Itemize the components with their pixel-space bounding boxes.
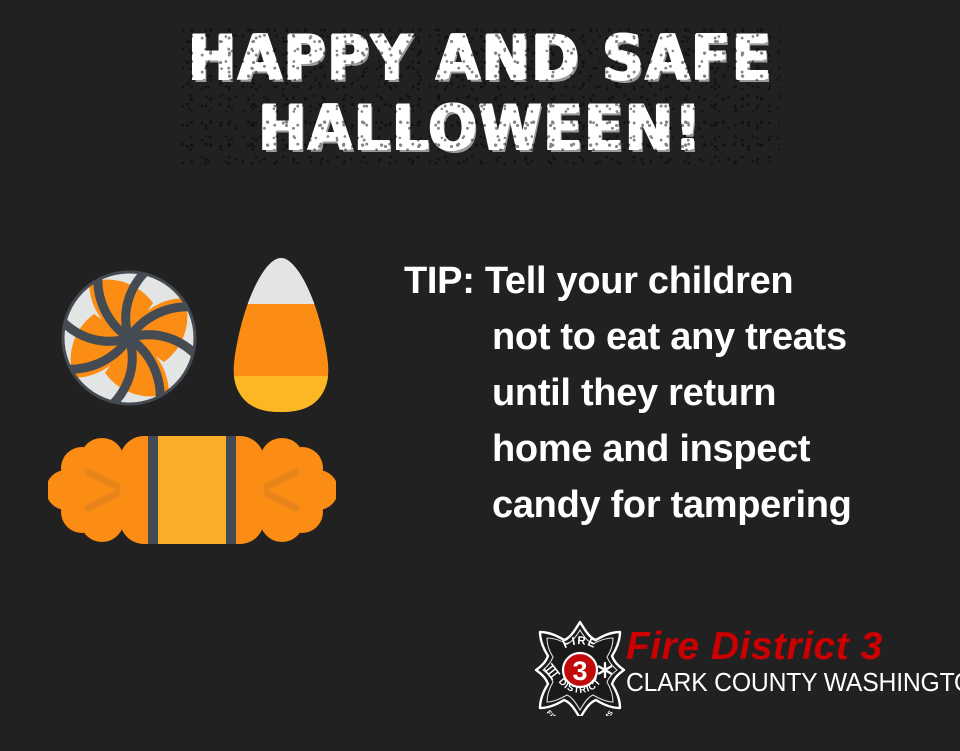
poster-headline: Happy and Safe Halloween! bbox=[38, 26, 921, 160]
headline-line-2: Halloween! bbox=[38, 96, 921, 160]
fire-department-badge-icon: FIRE 3 DISTRICT bbox=[534, 620, 626, 716]
maltese-cross-badge: FIRE 3 DISTRICT bbox=[534, 620, 626, 716]
peppermint-swirl-icon bbox=[60, 269, 198, 407]
candy-stripe-right bbox=[226, 436, 236, 544]
logo-subtitle: CLARK COUNTY WASHINGTON bbox=[626, 668, 921, 698]
candy-corn-icon bbox=[228, 256, 334, 414]
halloween-safety-poster: Happy and Safe Halloween! bbox=[0, 0, 960, 751]
fire-district-logo[interactable]: FIRE 3 DISTRICT bbox=[534, 620, 930, 720]
badge-number: 3 bbox=[572, 656, 587, 686]
candy-corn bbox=[228, 256, 334, 414]
peppermint-swirl-candy bbox=[60, 269, 198, 407]
tip-line-5: candy for tampering bbox=[404, 477, 924, 533]
candy-center-panel bbox=[154, 436, 230, 544]
tip-line-3: until they return bbox=[404, 365, 924, 421]
tip-line-1: TIP: Tell your children bbox=[404, 253, 924, 309]
logo-wordmark: Fire District 3 CLARK COUNTY WASHINGTON bbox=[626, 626, 930, 698]
headline-line-1: Happy and Safe bbox=[38, 26, 921, 90]
wrapped-candy-icon bbox=[48, 430, 336, 550]
safety-tip-text: TIP: Tell your children not to eat any t… bbox=[404, 253, 924, 533]
logo-title: Fire District 3 bbox=[626, 626, 930, 668]
wrapped-candy bbox=[48, 430, 336, 550]
candy-stripe-left bbox=[148, 436, 158, 544]
tip-line-4: home and inspect bbox=[404, 421, 924, 477]
tip-line-2: not to eat any treats bbox=[404, 309, 924, 365]
